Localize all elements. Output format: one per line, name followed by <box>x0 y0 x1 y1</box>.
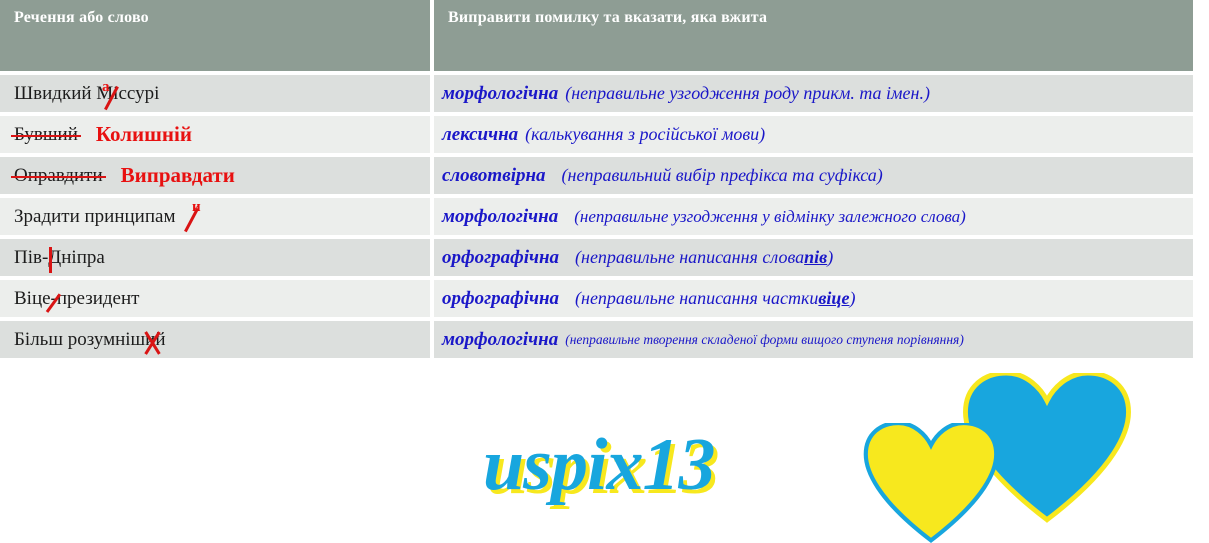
table-header-row: Речення або слово Виправити помилку та в… <box>0 0 1193 71</box>
table-row: Зрадити принципам и морфологічна(неправи… <box>0 198 1193 235</box>
error-explanation: (неправильне узгодження роду прикм. та і… <box>565 83 930 104</box>
correction-cell: словотвірна(неправильний вибір префікса … <box>434 157 1193 194</box>
original-text: Зрадити принципам <box>14 206 175 227</box>
strikethrough-icon <box>11 176 106 179</box>
strikethrough-icon <box>11 135 81 138</box>
original-cell: Швидкий Міссурі а <box>0 75 430 112</box>
x-mark-icon <box>151 330 173 356</box>
correction-cell: морфологічна(неправильне творення складе… <box>434 321 1193 358</box>
table-row: Оправдити Виправдати словотвірна(неправи… <box>0 157 1193 194</box>
original-word: Віце-президент <box>14 288 139 310</box>
heart-yellow-icon <box>798 423 1064 543</box>
error-explanation: (неправильне творення складеної форми ви… <box>565 332 964 348</box>
logo-text: uspix13 <box>483 423 715 508</box>
error-explanation: (калькування з російської мови) <box>525 124 765 145</box>
original-cell: Пів-Дніпра <box>0 239 430 276</box>
watermark-logo: uspix13 <box>483 373 1209 537</box>
original-cell: Більш розумніший <box>0 321 430 358</box>
table-row: Віце-президент орфографічна(неправильне … <box>0 280 1193 317</box>
original-word: Пів-Дніпра <box>14 247 105 269</box>
error-kind: орфографічна <box>442 288 559 310</box>
original-word: Оправдити <box>14 165 103 187</box>
error-kind: лексична <box>442 124 518 146</box>
error-explanation-keyword: пів <box>804 247 827 268</box>
error-kind: морфологічна <box>442 329 558 351</box>
table-row: Швидкий Міссурі а морфологічна(неправиль… <box>0 75 1193 112</box>
correction-cell: лексична(калькування з російської мови) <box>434 116 1193 153</box>
correction-cell: орфографічна(неправильне написання частк… <box>434 280 1193 317</box>
error-explanation-keyword: віце <box>818 288 849 309</box>
table-row: Пів-Дніпра орфографічна(неправильне напи… <box>0 239 1193 276</box>
original-word: Бувший <box>14 124 78 146</box>
original-cell: Зрадити принципам и <box>0 198 430 235</box>
table-row: Бувший Колишній лексична(калькування з р… <box>0 116 1193 153</box>
correction-cell: морфологічна(неправильне узгодження роду… <box>434 75 1193 112</box>
replacement-word: Виправдати <box>121 163 235 188</box>
original-cell: Бувший Колишній <box>0 116 430 153</box>
correction-cell: орфографічна(неправильне написання слова… <box>434 239 1193 276</box>
error-explanation-post: ) <box>849 288 855 309</box>
table-row: Більш розумніший морфологічна(неправильн… <box>0 321 1193 358</box>
original-text: Пів-Дніпра <box>14 247 105 268</box>
original-word: Зрадити принципам и <box>14 206 175 228</box>
correction-cell: морфологічна(неправильне узгодження у ві… <box>434 198 1193 235</box>
original-word: Швидкий Міссурі а <box>14 83 159 105</box>
vertical-bar-mark-icon <box>49 247 52 273</box>
original-word: Більш розумніший <box>14 329 166 351</box>
column-header-sentence: Речення або слово <box>0 0 430 71</box>
original-text: Віце-президент <box>14 288 139 309</box>
error-kind: словотвірна <box>442 165 546 187</box>
error-explanation-post: ) <box>827 247 833 268</box>
error-explanation-pre: (неправильне написання слова <box>575 247 804 268</box>
error-kind: морфологічна <box>442 206 558 228</box>
original-text: Швидкий Міссурі <box>14 83 159 104</box>
column-header-correction: Виправити помилку та вказати, яка вжита <box>434 0 1193 71</box>
error-kind: орфографічна <box>442 247 559 269</box>
error-kind: морфологічна <box>442 83 558 105</box>
correction-letter: а <box>102 80 110 95</box>
error-explanation: (неправильний вибір префікса та суфікса) <box>562 165 883 186</box>
original-cell: Оправдити Виправдати <box>0 157 430 194</box>
error-explanation-pre: (неправильне написання частки <box>575 288 818 309</box>
replacement-word: Колишній <box>96 122 192 147</box>
error-correction-table: Речення або слово Виправити помилку та в… <box>0 0 1193 358</box>
original-cell: Віце-президент <box>0 280 430 317</box>
original-text: Більш розумніший <box>14 329 166 350</box>
error-explanation: (неправильне узгодження у відмінку залеж… <box>574 207 966 227</box>
